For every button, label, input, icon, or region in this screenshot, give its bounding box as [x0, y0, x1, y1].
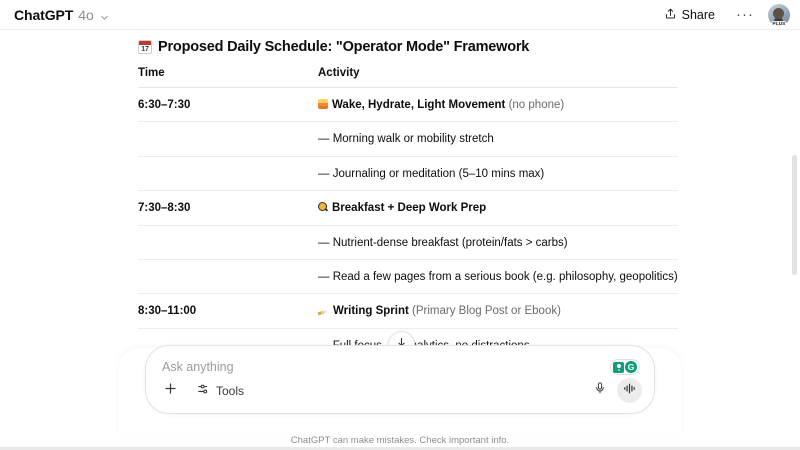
activity-title: Writing Sprint [333, 305, 409, 317]
table-row: — Read a few pages from a serious book (… [138, 259, 678, 293]
activity-title: Wake, Hydrate, Light Movement [332, 99, 505, 111]
cell-activity: — Read a few pages from a serious book (… [318, 259, 678, 293]
cell-time [138, 259, 318, 293]
column-header-activity: Activity [318, 67, 678, 88]
cell-activity: — Morning walk or mobility stretch [318, 122, 678, 156]
vertical-scrollbar[interactable] [792, 155, 797, 275]
sliders-icon [197, 382, 211, 399]
cell-time: 8:30–11:00 [138, 294, 318, 328]
share-label: Share [682, 8, 715, 22]
voice-mode-button[interactable] [617, 378, 642, 403]
table-header-row: Time Activity [138, 67, 678, 88]
top-bar: ChatGPT 4o Share ··· PLUS [0, 0, 800, 30]
chevron-down-icon [99, 10, 110, 21]
table-row: 8:30–11:00 Writing Sprint (Primary Blog … [138, 294, 678, 328]
table-row: — Morning walk or mobility stretch [138, 122, 678, 156]
search-input[interactable]: Ask anything [162, 360, 234, 374]
disclaimer-text: ChatGPT can make mistakes. Check importa… [0, 435, 800, 446]
cell-activity: Wake, Hydrate, Light Movement (no phone) [318, 88, 678, 122]
microphone-button[interactable] [590, 381, 610, 401]
table-row: — Nutrient-dense breakfast (protein/fats… [138, 225, 678, 259]
add-attachment-button[interactable] [160, 381, 180, 401]
lightbulb-icon [613, 362, 624, 373]
sunrise-icon [318, 99, 328, 109]
chatgpt-window: ChatGPT 4o Share ··· PLUS 17 [0, 0, 800, 450]
composer-toolbar: Tools [160, 378, 642, 403]
activity-note: (Primary Blog Post or Ebook) [409, 305, 561, 317]
column-header-time: Time [138, 67, 318, 88]
composer-area: Ask anything G [0, 342, 800, 450]
cell-activity: — Journaling or meditation (5–10 mins ma… [318, 156, 678, 190]
cell-activity: Breakfast + Deep Work Prep [318, 191, 678, 225]
tools-button[interactable]: Tools [192, 380, 249, 401]
avatar[interactable]: PLUS [768, 4, 790, 26]
cell-time: 7:30–8:30 [138, 191, 318, 225]
plus-icon [163, 381, 178, 401]
table-row: — Journaling or meditation (5–10 mins ma… [138, 156, 678, 190]
table-row: 7:30–8:30 Breakfast + Deep Work Prep [138, 191, 678, 225]
cell-activity: — Nutrient-dense breakfast (protein/fats… [318, 225, 678, 259]
microphone-icon [593, 381, 607, 400]
magnifier-icon [318, 202, 328, 212]
grammarly-logo-icon: G [625, 361, 637, 373]
composer-right-actions [590, 378, 642, 403]
cell-activity: Writing Sprint (Primary Blog Post or Ebo… [318, 294, 678, 328]
composer-left-actions: Tools [160, 380, 249, 401]
top-bar-actions: Share ··· PLUS [657, 3, 790, 27]
writing-hand-icon [318, 305, 329, 315]
cell-time [138, 225, 318, 259]
more-options-button[interactable]: ··· [732, 10, 758, 20]
plus-badge: PLUS [771, 21, 786, 27]
cell-time [138, 122, 318, 156]
model-switcher[interactable]: ChatGPT 4o [14, 7, 110, 23]
cell-time: 6:30–7:30 [138, 88, 318, 122]
activity-note: (no phone) [505, 99, 564, 111]
grammarly-badge[interactable]: G [610, 359, 640, 375]
voice-waveform-icon [622, 381, 637, 401]
composer-input-row: Ask anything G [162, 359, 640, 375]
page-title-text: Proposed Daily Schedule: "Operator Mode"… [158, 39, 529, 55]
table-row: 6:30–7:30 Wake, Hydrate, Light Movement … [138, 88, 678, 122]
model-label: 4o [78, 7, 94, 23]
composer-box[interactable]: Ask anything G [145, 345, 655, 414]
cell-time [138, 156, 318, 190]
brand-label: ChatGPT [14, 7, 73, 23]
share-button[interactable]: Share [657, 3, 722, 27]
page-title: 17 Proposed Daily Schedule: "Operator Mo… [138, 39, 678, 55]
share-upload-icon [664, 7, 677, 23]
activity-title: Breakfast + Deep Work Prep [332, 202, 486, 214]
calendar-icon: 17 [138, 40, 152, 54]
tools-label: Tools [216, 384, 244, 398]
